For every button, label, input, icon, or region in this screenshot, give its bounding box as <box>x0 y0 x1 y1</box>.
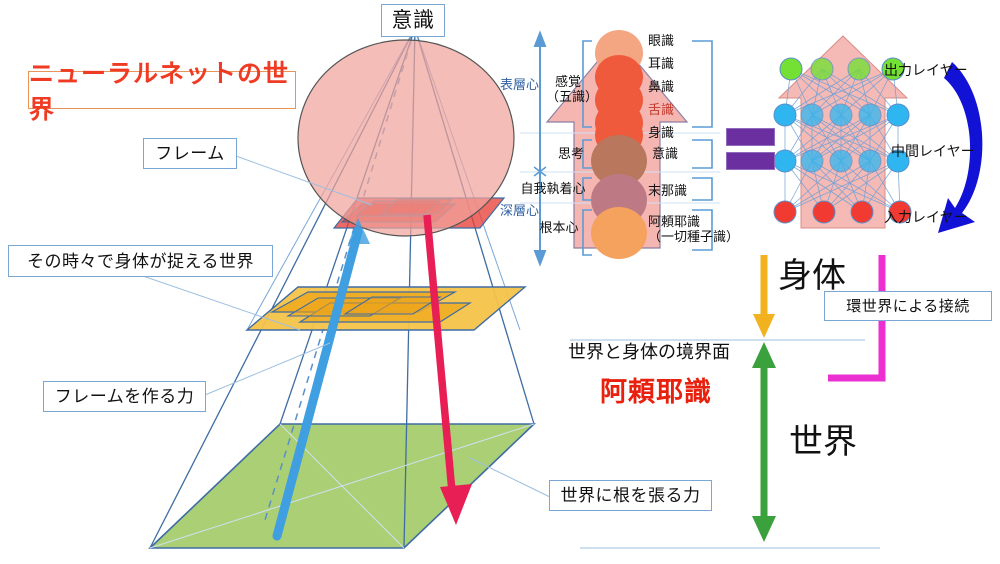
group-sensation: 感覚 （五識） <box>546 75 590 105</box>
label-tongue-consciousness: 舌識 <box>648 103 674 118</box>
group-ego-attachment: 自我執着心 <box>515 182 591 197</box>
pyramid-layer-body <box>247 287 525 330</box>
label-eye-consciousness: 眼識 <box>648 34 674 49</box>
group-sensation-line2: （五識） <box>546 89 598 104</box>
label-ear-consciousness: 耳識 <box>648 57 674 72</box>
label-body: 身体 <box>778 248 846 297</box>
node-alaya-consciousness <box>591 207 647 259</box>
label-nose-consciousness: 鼻識 <box>648 80 674 95</box>
label-deep-mind: 深層心 <box>500 204 539 219</box>
label-manas-consciousness: 末那識 <box>648 184 687 199</box>
label-alaya-line1: 阿頼耶識 <box>648 214 700 229</box>
callout-umwelt-connection: 環世界による接続 <box>824 291 992 321</box>
label-shallow-mind: 表層心 <box>500 78 539 93</box>
group-sensation-line1: 感覚 <box>555 74 581 89</box>
arrow-body-down <box>753 255 775 338</box>
diagram-canvas: ニューラルネットの世界 意識 フレーム その時々で身体が捉える世界 フレームを作… <box>0 0 1000 564</box>
callout-frame-making-power: フレームを作る力 <box>43 381 206 412</box>
label-boundary-alaya: 阿頼耶識 <box>600 370 712 409</box>
label-output-layer: 出力レイヤー <box>884 60 968 80</box>
label-world: 世界 <box>789 414 857 463</box>
callout-frame: フレーム <box>143 138 237 169</box>
label-boundary-caption: 世界と身体の境界面 <box>568 343 730 361</box>
arrow-world-up <box>752 342 776 542</box>
group-thought: 思考 <box>551 147 591 162</box>
label-hidden-layer: 中間レイヤー <box>891 141 975 161</box>
consciousness-sphere <box>298 40 514 236</box>
group-root-mind: 根本心 <box>527 221 591 236</box>
label-alaya-line2: （一切種子識） <box>648 229 739 244</box>
label-input-layer: 入力レイヤー <box>884 207 968 227</box>
equals-sign-bottom-bar <box>726 152 775 170</box>
label-body-consciousness: 身識 <box>648 126 674 141</box>
equals-sign-top-bar <box>726 128 775 146</box>
callout-perceived-world: その時々で身体が捉える世界 <box>8 245 273 277</box>
label-mind-consciousness: 意識 <box>652 147 678 162</box>
callout-rooting-power: 世界に根を張る力 <box>549 480 712 511</box>
label-consciousness-apex: 意識 <box>381 4 445 37</box>
page-title: ニューラルネットの世界 <box>28 71 296 109</box>
label-alaya-consciousness: 阿頼耶識 （一切種子識） <box>648 215 739 245</box>
